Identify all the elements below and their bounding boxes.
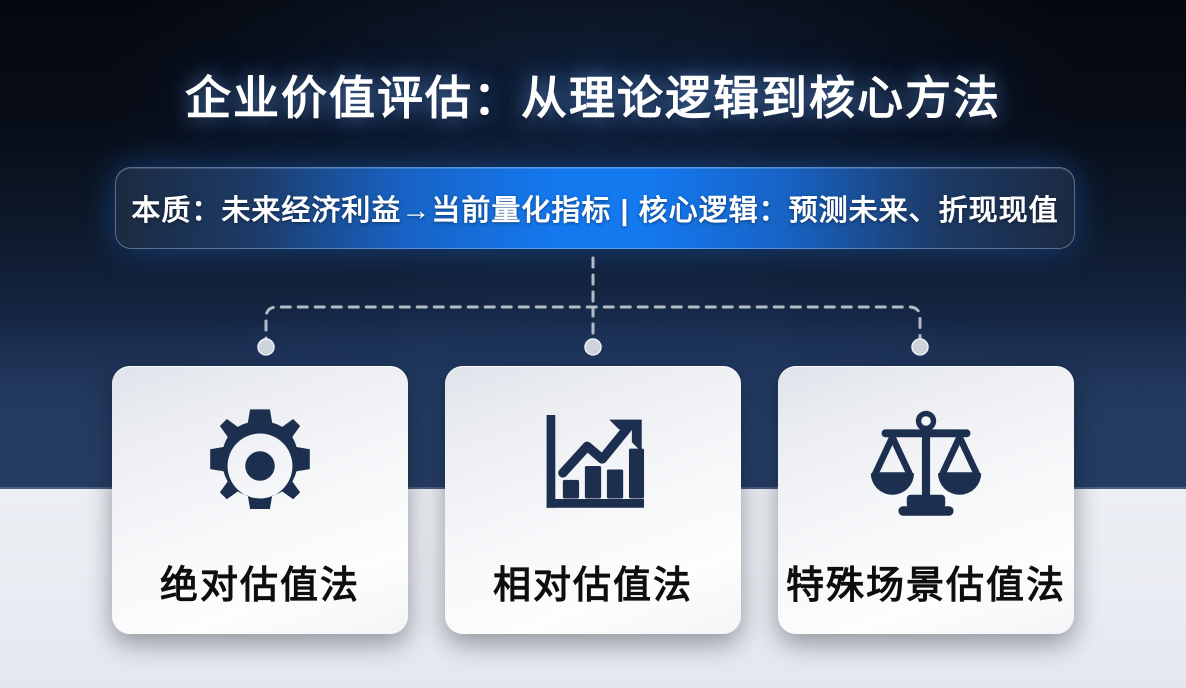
method-card-special-scenario-valuation[interactable]: 特殊场景估值法 <box>778 366 1074 634</box>
bar-chart-growth-icon <box>527 400 659 532</box>
method-card-label: 相对估值法 <box>493 554 693 609</box>
connector-nodes <box>258 339 928 355</box>
key-concept-banner: 本质：未来经济利益→当前量化指标 | 核心逻辑：预测未来、折现现值 <box>115 167 1075 249</box>
method-card-list: 绝对估值法 相对估值法 <box>112 366 1074 634</box>
page-title: 企业价值评估：从理论逻辑到核心方法 <box>0 62 1186 128</box>
method-card-relative-valuation[interactable]: 相对估值法 <box>445 366 741 634</box>
key-concept-banner-text: 本质：未来经济利益→当前量化指标 | 核心逻辑：预测未来、折现现值 <box>131 187 1058 229</box>
gear-icon <box>194 400 326 532</box>
balance-scales-icon <box>860 400 992 532</box>
connector-node-right <box>912 339 928 355</box>
method-card-label: 绝对估值法 <box>160 554 360 609</box>
connector-node-center <box>585 339 601 355</box>
method-card-label: 特殊场景估值法 <box>786 554 1066 609</box>
slide-canvas: 企业价值评估：从理论逻辑到核心方法 本质：未来经济利益→当前量化指标 | 核心逻… <box>0 0 1186 688</box>
connector-node-left <box>258 339 274 355</box>
connector-diagram <box>0 252 1186 362</box>
method-card-absolute-valuation[interactable]: 绝对估值法 <box>112 366 408 634</box>
